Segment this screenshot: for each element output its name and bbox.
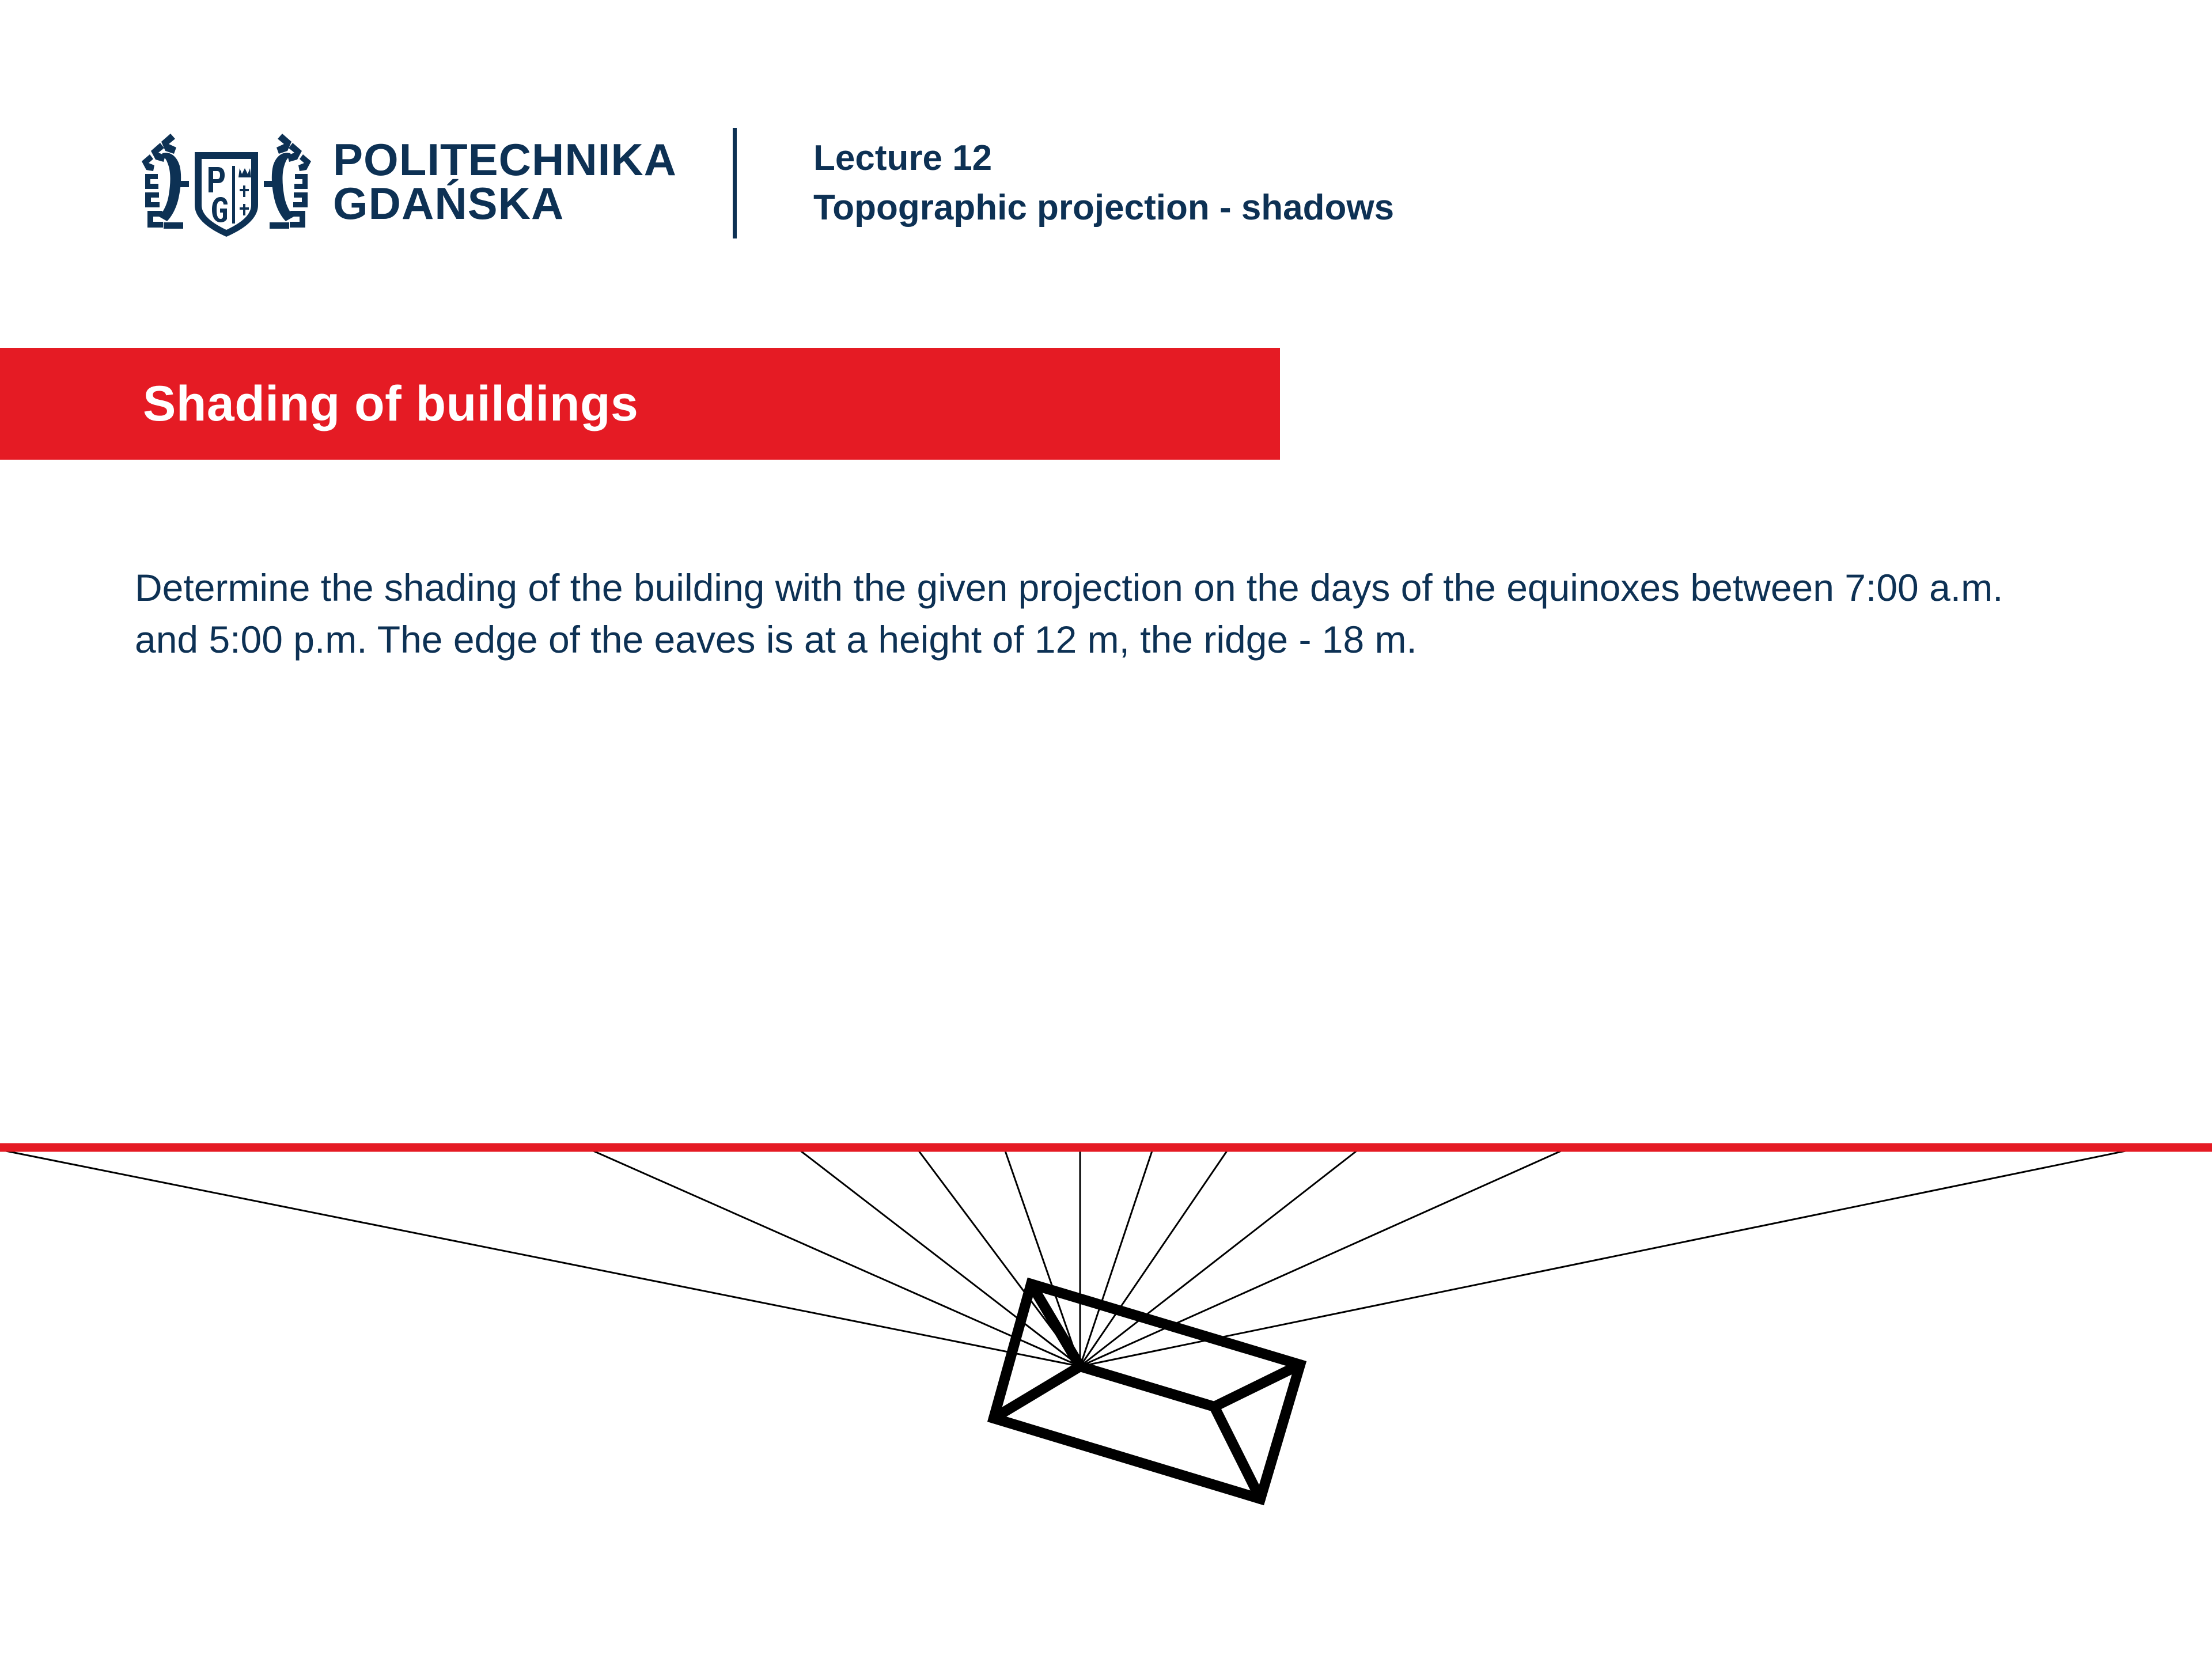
header-divider [733,128,737,238]
eaves-outline [994,1284,1300,1499]
ridge-line [1080,1366,1214,1407]
lecture-topic: Topographic projection - shadows [813,183,1394,233]
sun-ray-11 [1080,1151,2126,1366]
sun-ray-5 [1005,1151,1080,1366]
section-title-banner: Shading of buildings [0,348,1280,460]
sun-ray-2 [593,1151,1080,1366]
lecture-number: Lecture 12 [813,134,1394,183]
hip-line-4 [1214,1407,1260,1499]
sun-ray-1 [6,1151,1080,1366]
building-plan [994,1284,1300,1499]
page-title: Shading of buildings [143,376,638,433]
hip-lines [994,1284,1300,1499]
wordmark-line-2: GDAŃSKA [333,182,677,226]
sun-ray-lines [6,1151,2126,1366]
slide-header: POLITECHNIKA GDAŃSKA Lecture 12 Topograp… [0,0,2212,300]
hip-line-2 [994,1366,1080,1418]
lecture-info: Lecture 12 Topographic projection - shad… [813,134,1394,232]
wordmark-line-1: POLITECHNIKA [333,138,677,182]
sun-ray-4 [919,1151,1080,1366]
sun-ray-9 [1080,1151,1357,1366]
pg-crest-icon [137,126,316,238]
task-description: Determine the shading of the building wi… [135,562,2047,666]
university-wordmark: POLITECHNIKA GDAŃSKA [333,138,677,225]
university-logo: POLITECHNIKA GDAŃSKA [137,126,677,238]
sun-ray-8 [1080,1151,1227,1366]
hip-line-1 [1031,1284,1080,1366]
sun-ray-7 [1080,1151,1152,1366]
hip-line-3 [1214,1365,1300,1407]
sun-ray-3 [801,1151,1080,1366]
sun-ray-10 [1080,1151,1561,1366]
